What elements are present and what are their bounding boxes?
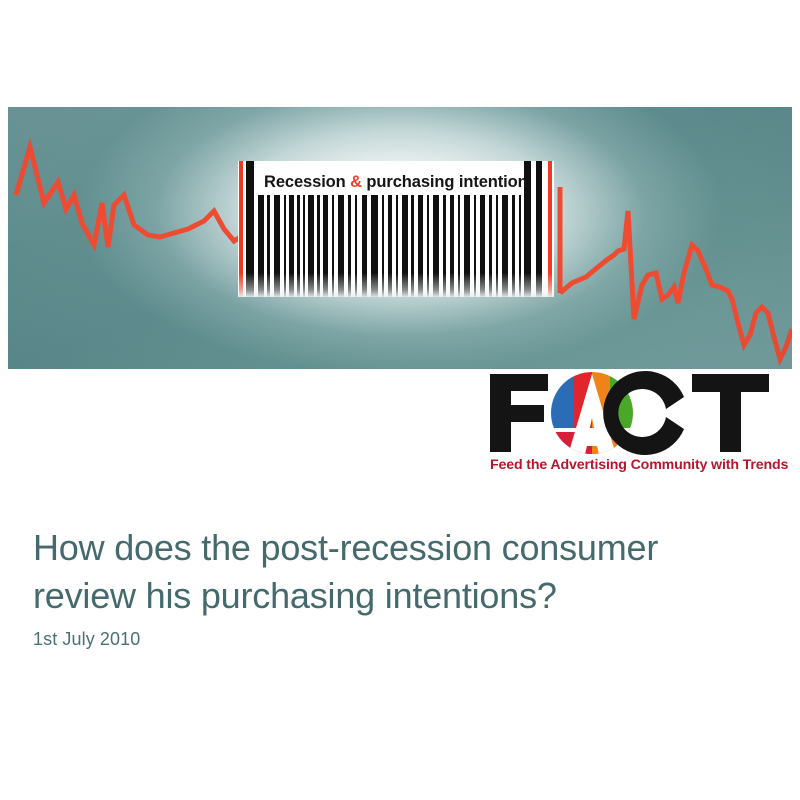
slide-root: Recession & purchasing intention bbox=[0, 0, 800, 800]
barcode-caption-suffix: purchasing intention bbox=[362, 173, 528, 191]
fact-tagline: Feed the Advertising Community with Tren… bbox=[490, 457, 786, 473]
barcode-graphic: Recession & purchasing intention bbox=[238, 161, 554, 297]
logo-letter-f bbox=[490, 374, 548, 452]
barcode-caption-text: Recession & purchasing intention bbox=[264, 169, 542, 195]
logo-letter-c bbox=[603, 371, 684, 455]
logo-letter-t bbox=[692, 374, 769, 452]
barcode-caption-prefix: Recession bbox=[264, 173, 350, 191]
fact-logo: Feed the Advertising Community with Tren… bbox=[488, 370, 788, 480]
page-title: How does the post-recession consumer rev… bbox=[33, 524, 763, 620]
trend-line-right bbox=[560, 211, 792, 359]
slide-date: 1st July 2010 bbox=[33, 629, 140, 650]
barcode-caption-ampersand: & bbox=[350, 173, 362, 191]
